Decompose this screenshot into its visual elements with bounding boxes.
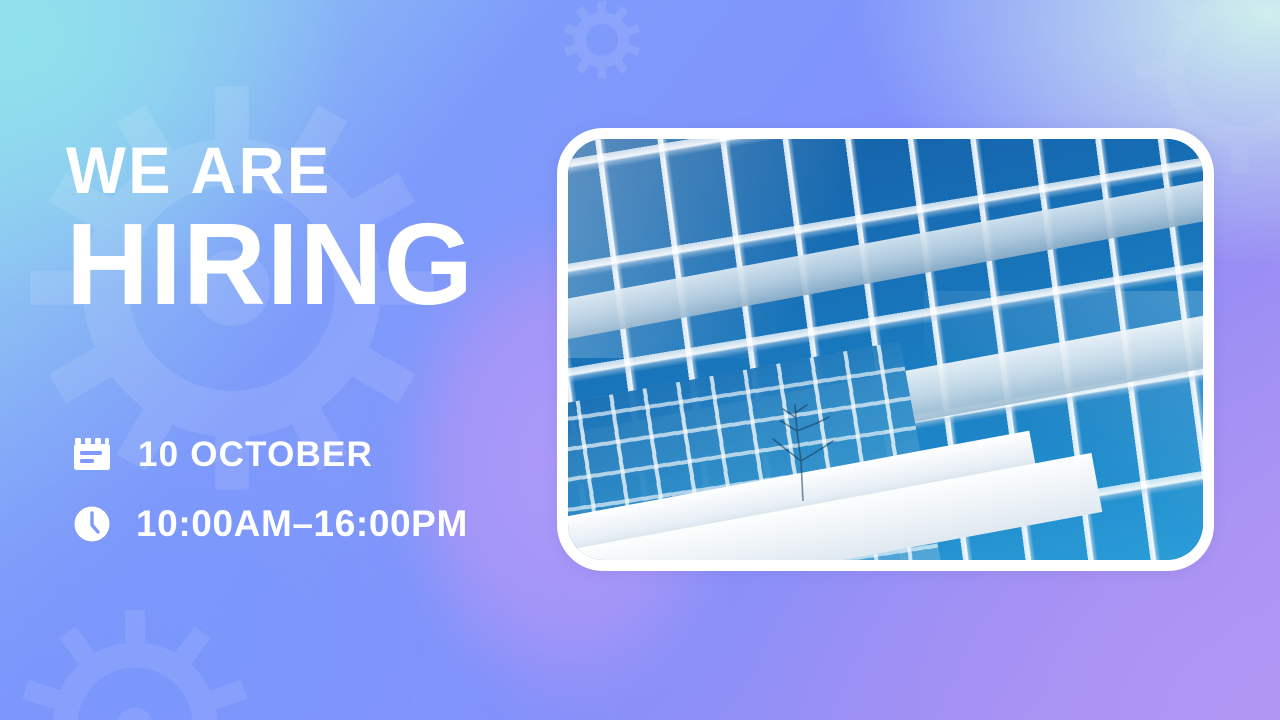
headline-main: HIRING bbox=[66, 215, 581, 315]
calendar-icon bbox=[66, 435, 118, 475]
headline-block: WE ARE HIRING bbox=[66, 140, 586, 314]
photo-card bbox=[557, 128, 1214, 571]
gear-icon bbox=[560, 0, 644, 82]
headline-top: WE ARE bbox=[66, 140, 565, 201]
clock-icon bbox=[66, 504, 118, 544]
hiring-poster: WE ARE HIRING bbox=[0, 0, 1280, 720]
detail-row-date: 10 OCTOBER bbox=[66, 424, 468, 486]
event-details: 10 OCTOBER 10:00AM–16:00PM bbox=[66, 424, 468, 555]
detail-row-time: 10:00AM–16:00PM bbox=[66, 493, 468, 555]
detail-date-text: 10 OCTOBER bbox=[138, 435, 373, 475]
building-photo bbox=[568, 139, 1203, 560]
detail-time-text: 10:00AM–16:00PM bbox=[136, 503, 468, 545]
gear-icon bbox=[10, 600, 260, 720]
tree-branch-reflection bbox=[759, 391, 849, 501]
